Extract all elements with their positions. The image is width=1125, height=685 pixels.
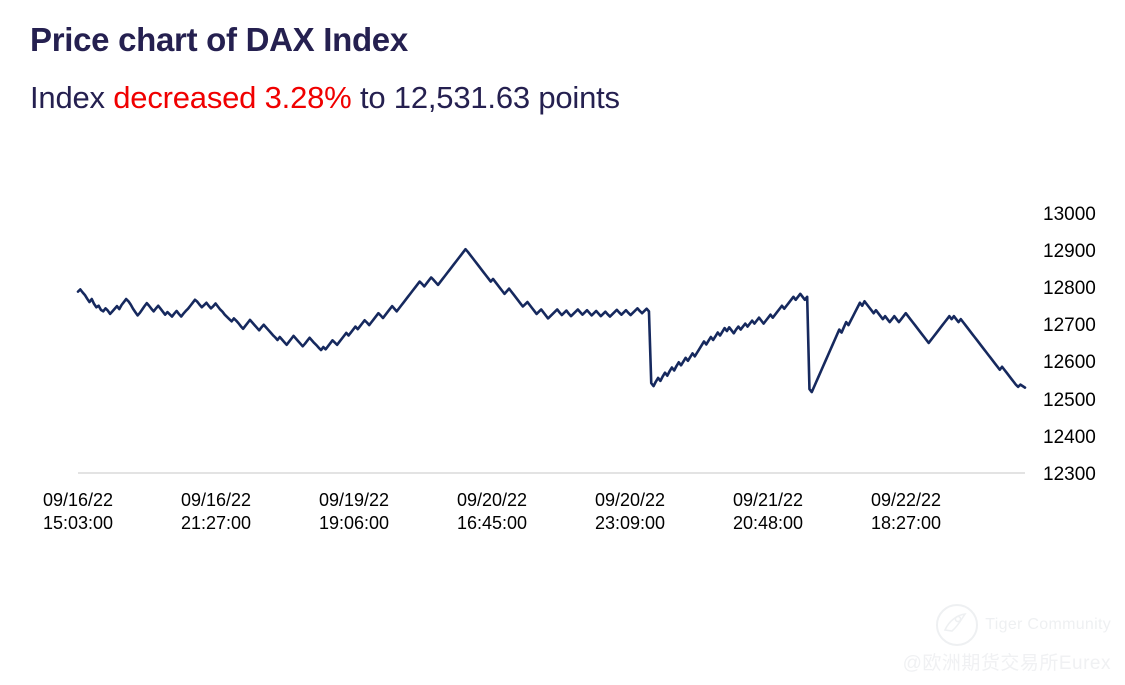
y-tick-label: 12300 <box>1043 465 1096 484</box>
x-tick-time: 18:27:00 <box>826 512 986 535</box>
price-series-line <box>78 249 1025 392</box>
x-tick-label: 09/21/2220:48:00 <box>688 489 848 535</box>
price-chart: 1300012900128001270012600125001240012300… <box>0 0 1125 685</box>
y-tick-label: 12400 <box>1043 428 1096 447</box>
x-tick-date: 09/20/22 <box>595 490 665 510</box>
y-tick-label: 12900 <box>1043 242 1096 261</box>
x-tick-label: 09/19/2219:06:00 <box>274 489 434 535</box>
x-tick-label: 09/16/2215:03:00 <box>0 489 158 535</box>
x-tick-date: 09/16/22 <box>181 490 251 510</box>
x-tick-time: 15:03:00 <box>0 512 158 535</box>
x-tick-time: 23:09:00 <box>550 512 710 535</box>
y-tick-label: 12800 <box>1043 279 1096 298</box>
x-tick-label: 09/16/2221:27:00 <box>136 489 296 535</box>
chart-plot-svg <box>0 0 1125 685</box>
x-tick-label: 09/20/2223:09:00 <box>550 489 710 535</box>
x-tick-date: 09/21/22 <box>733 490 803 510</box>
x-tick-label: 09/22/2218:27:00 <box>826 489 986 535</box>
y-tick-label: 12700 <box>1043 316 1096 335</box>
y-tick-label: 12600 <box>1043 353 1096 372</box>
x-tick-date: 09/19/22 <box>319 490 389 510</box>
x-tick-date: 09/22/22 <box>871 490 941 510</box>
x-tick-time: 21:27:00 <box>136 512 296 535</box>
x-tick-time: 19:06:00 <box>274 512 434 535</box>
x-tick-date: 09/20/22 <box>457 490 527 510</box>
y-tick-label: 13000 <box>1043 205 1096 224</box>
x-tick-date: 09/16/22 <box>43 490 113 510</box>
x-tick-time: 16:45:00 <box>412 512 572 535</box>
x-tick-time: 20:48:00 <box>688 512 848 535</box>
y-tick-label: 12500 <box>1043 391 1096 410</box>
x-tick-label: 09/20/2216:45:00 <box>412 489 572 535</box>
